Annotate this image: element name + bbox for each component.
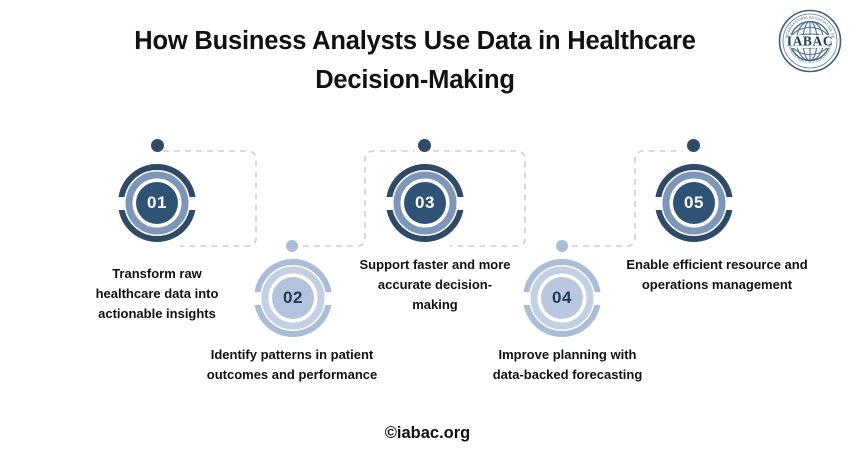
connector-dot-03 xyxy=(418,139,431,152)
step-number-05: 05 xyxy=(655,164,733,242)
connector-dot-05 xyxy=(687,139,700,152)
step-caption-05: Enable efficient resource and operations… xyxy=(618,255,816,295)
step-caption-01: Transform raw healthcare data into actio… xyxy=(82,264,232,324)
step-number-03: 03 xyxy=(386,164,464,242)
infographic-page: How Business Analysts Use Data in Health… xyxy=(0,0,855,455)
iabac-logo: IABAC INTERNATIONAL ASSOCIATION OF BUSIN… xyxy=(778,9,842,73)
step-node-05[interactable]: 05 xyxy=(655,164,733,242)
step-caption-02: Identify patterns in patient outcomes an… xyxy=(203,345,381,385)
step-caption-04: Improve planning with data-backed foreca… xyxy=(486,345,649,385)
connector-dot-02 xyxy=(286,240,298,252)
step-number-01: 01 xyxy=(118,164,196,242)
step-node-02[interactable]: 02 xyxy=(254,259,332,337)
page-title: How Business Analysts Use Data in Health… xyxy=(90,22,740,100)
step-node-01[interactable]: 01 xyxy=(118,164,196,242)
logo-center-text: IABAC xyxy=(787,33,834,48)
connector-dot-04 xyxy=(556,240,568,252)
step-number-02: 02 xyxy=(254,259,332,337)
step-caption-03: Support faster and more accurate decisio… xyxy=(356,255,514,315)
step-node-03[interactable]: 03 xyxy=(386,164,464,242)
footer-attribution: ©iabac.org xyxy=(0,424,855,443)
step-node-04[interactable]: 04 xyxy=(523,259,601,337)
connector-dot-01 xyxy=(151,139,164,152)
step-number-04: 04 xyxy=(523,259,601,337)
